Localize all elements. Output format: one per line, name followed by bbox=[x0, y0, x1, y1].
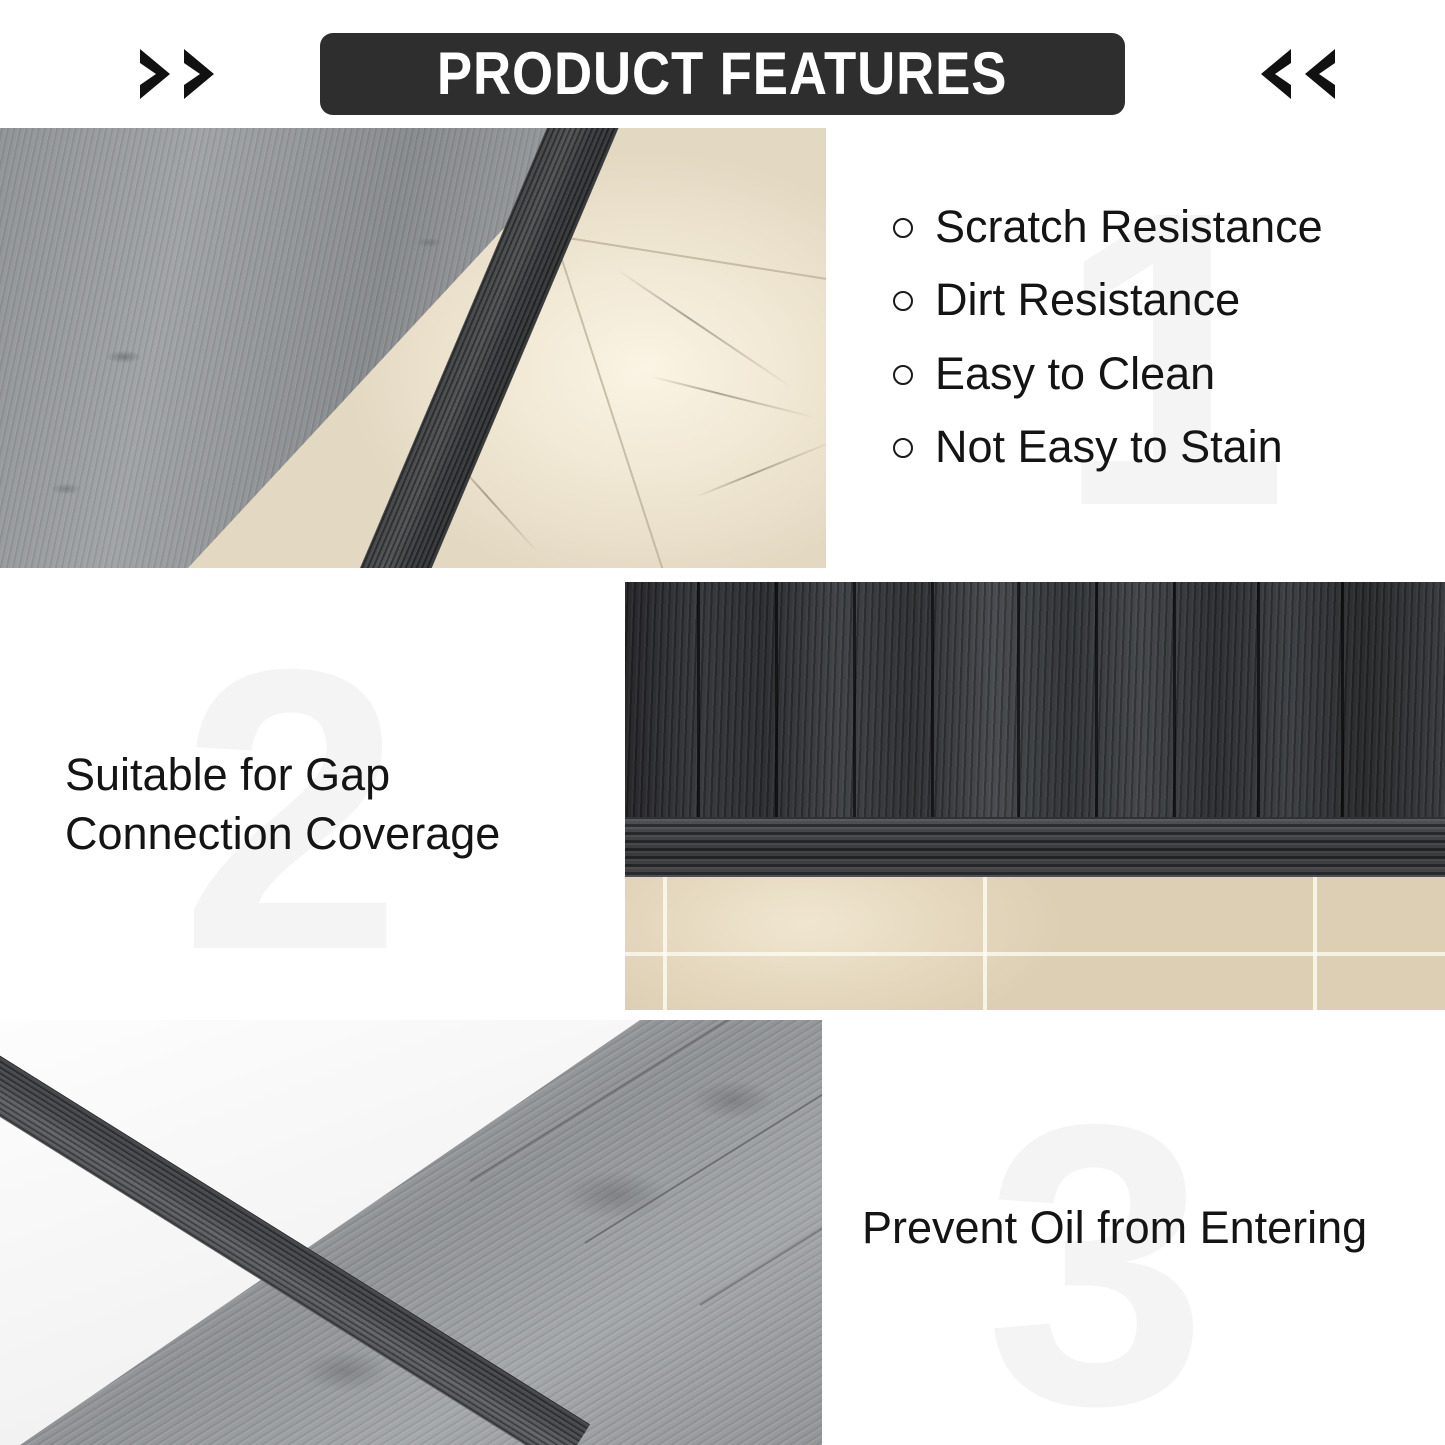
photo-white-to-gray-wood-transition bbox=[0, 1020, 822, 1445]
section-caption: Suitable for Gap Connection Coverage bbox=[65, 745, 585, 864]
page-title: PRODUCT FEATURES bbox=[437, 44, 1007, 104]
product-features-infographic: PRODUCT FEATURES 1 Scratch Resistance bbox=[0, 0, 1445, 1445]
feature-label: Easy to Clean bbox=[935, 350, 1215, 397]
double-chevron-right-icon bbox=[138, 44, 216, 104]
feature-item: Easy to Clean bbox=[893, 350, 1433, 397]
plank-seam bbox=[697, 582, 700, 826]
chevron-left-icon bbox=[1259, 47, 1293, 101]
feature-list: Scratch Resistance Dirt Resistance Easy … bbox=[893, 203, 1433, 496]
wood-grain-knot bbox=[560, 1170, 670, 1220]
chevron-right-icon bbox=[138, 47, 172, 101]
photo-gray-wood-to-marble-transition bbox=[0, 128, 826, 568]
tile-grout-line bbox=[663, 877, 667, 1010]
feature-label: Not Easy to Stain bbox=[935, 423, 1283, 470]
feature-item: Scratch Resistance bbox=[893, 203, 1433, 250]
plank-seam bbox=[699, 1020, 822, 1306]
hollow-circle-bullet-icon bbox=[893, 291, 913, 311]
header: PRODUCT FEATURES bbox=[0, 0, 1445, 125]
hollow-circle-bullet-icon bbox=[893, 218, 913, 238]
chevron-right-icon bbox=[182, 47, 216, 101]
chevron-left-icon bbox=[1303, 47, 1337, 101]
photo-dark-plank-to-travertine-transition bbox=[625, 582, 1445, 1010]
feature-item: Not Easy to Stain bbox=[893, 423, 1433, 470]
transition-strip bbox=[625, 817, 1445, 877]
plank-seam bbox=[853, 582, 856, 826]
plank-seam bbox=[1017, 582, 1020, 826]
plank-seam bbox=[1173, 582, 1176, 826]
page-title-badge: PRODUCT FEATURES bbox=[320, 33, 1125, 115]
hollow-circle-bullet-icon bbox=[893, 365, 913, 385]
feature-label: Scratch Resistance bbox=[935, 203, 1323, 250]
caption-line: Suitable for Gap bbox=[65, 745, 585, 804]
plank-seam bbox=[1095, 582, 1098, 826]
wood-grain-knot bbox=[300, 1350, 390, 1392]
dark-wood-plank-surface bbox=[625, 582, 1445, 826]
caption-line: Connection Coverage bbox=[65, 804, 585, 863]
section-caption: Prevent Oil from Entering bbox=[862, 1200, 1442, 1256]
plank-seam bbox=[1257, 582, 1260, 826]
plank-seam bbox=[1341, 582, 1344, 826]
tile-grout-line bbox=[983, 877, 987, 1010]
hollow-circle-bullet-icon bbox=[893, 438, 913, 458]
plank-seam bbox=[931, 582, 934, 826]
feature-item: Dirt Resistance bbox=[893, 276, 1433, 323]
double-chevron-left-icon bbox=[1259, 44, 1337, 104]
tile-grout-line bbox=[1313, 877, 1317, 1010]
plank-seam bbox=[775, 582, 778, 826]
caption-line: Prevent Oil from Entering bbox=[862, 1200, 1442, 1256]
travertine-tile-surface bbox=[625, 877, 1445, 1010]
wood-grain-knot bbox=[690, 1080, 776, 1120]
feature-label: Dirt Resistance bbox=[935, 276, 1240, 323]
tile-grout-line bbox=[625, 952, 1445, 956]
